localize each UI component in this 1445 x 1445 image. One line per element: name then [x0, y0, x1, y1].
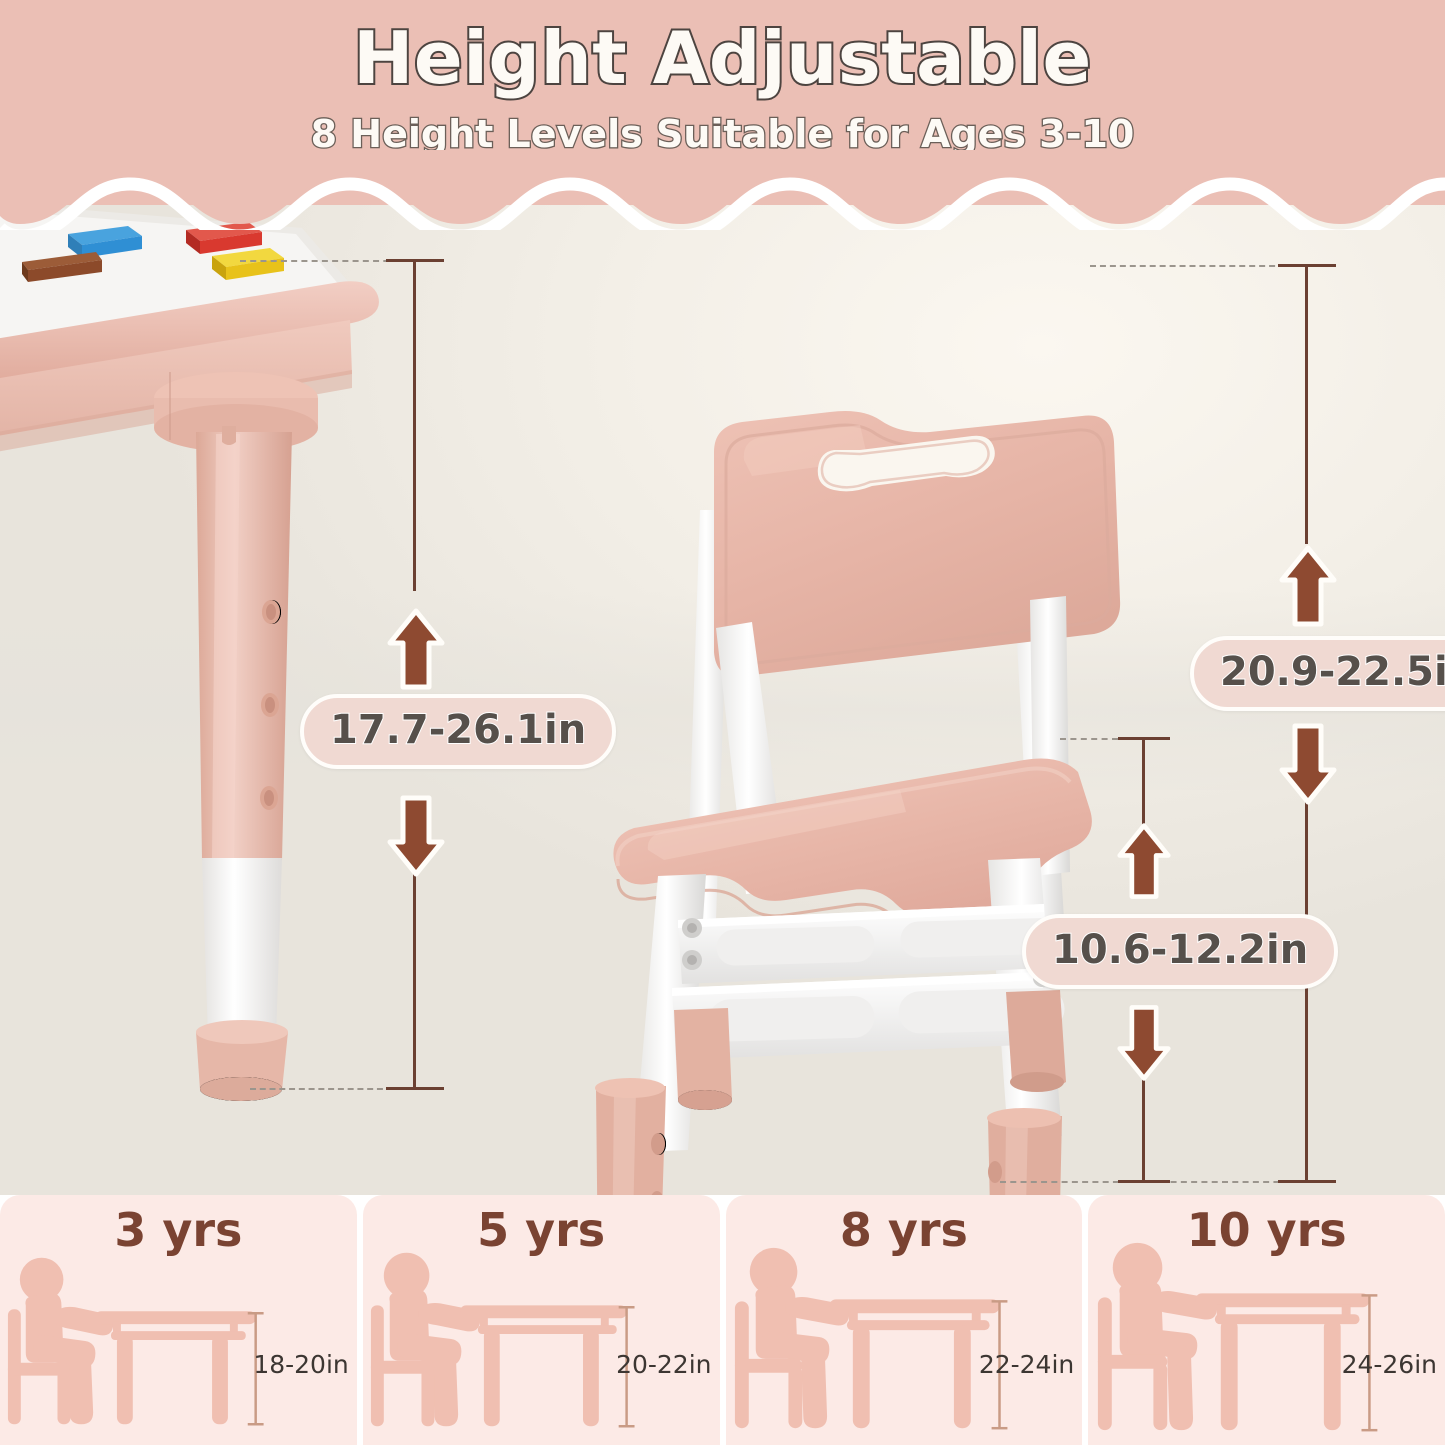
age-illustration [0, 1235, 357, 1445]
chair-top-dash [1090, 265, 1295, 267]
seat-height-badge: 10.6-12.2in [1022, 914, 1338, 989]
age-comparison-bar: 3 yrs [0, 1195, 1445, 1445]
chair-down-arrow [1278, 718, 1338, 808]
age-panel-3yrs: 3 yrs [0, 1195, 357, 1445]
table-figure [95, 1311, 256, 1424]
age-panel-8yrs: 8 yrs [726, 1195, 1083, 1445]
kids-table [0, 198, 379, 1101]
infographic-root: 17.7-26.1in 20.9-22.5in 10.6-12.2in Heig… [0, 0, 1445, 1445]
seat-up-arrow [1116, 820, 1172, 904]
table-measure-line-upper [413, 259, 416, 591]
table-figure [460, 1305, 626, 1426]
seated-child-figure [371, 1253, 480, 1426]
chair-measure-line-upper [1305, 264, 1308, 544]
age-panel-10yrs: 10 yrs [1088, 1195, 1445, 1445]
seated-child-figure [1098, 1243, 1217, 1430]
chair-height-badge: 20.9-22.5in [1190, 636, 1445, 711]
table-figure [829, 1299, 999, 1428]
chair-front-foot-left [595, 1078, 666, 1195]
table-measure-line-lower [413, 860, 416, 1088]
age-dimension: 22-24in [979, 1350, 1074, 1379]
table-up-arrow [386, 605, 446, 695]
age-illustration [363, 1235, 720, 1445]
age-dimension: 18-20in [253, 1350, 348, 1379]
seated-child-figure [8, 1258, 113, 1424]
age-illustration [1088, 1235, 1445, 1445]
kids-chair [582, 411, 1120, 1195]
seat-down-arrow [1116, 1000, 1172, 1084]
age-illustration [726, 1235, 1083, 1445]
seated-child-figure [734, 1248, 848, 1428]
age-panel-5yrs: 5 yrs [363, 1195, 720, 1445]
chair-up-arrow [1278, 542, 1338, 632]
table-down-arrow [386, 790, 446, 880]
age-dimension: 20-22in [616, 1350, 711, 1379]
page-title: Height Adjustable [0, 16, 1445, 100]
age-dimension: 24-26in [1342, 1350, 1437, 1379]
scalloped-divider [0, 150, 1445, 230]
table-height-badge: 17.7-26.1in [300, 694, 616, 769]
